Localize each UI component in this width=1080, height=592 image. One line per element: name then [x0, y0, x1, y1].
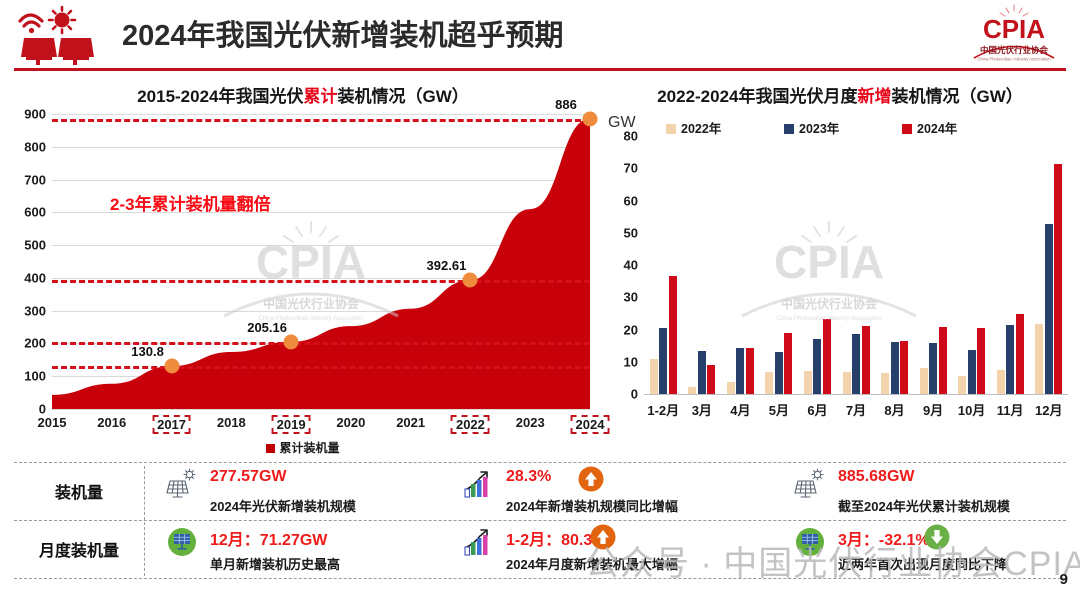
y-axis-tick: 60 — [624, 193, 638, 208]
cumulative-annotation: 2-3年累计装机量翻倍 — [110, 190, 271, 215]
summary-caption: 2024年新增装机规模同比增幅 — [506, 496, 678, 515]
reference-line — [52, 119, 590, 122]
x-axis-tick: 2021 — [396, 415, 425, 430]
y-axis-tick: 500 — [24, 238, 46, 253]
title-part-highlight: 累计 — [304, 87, 338, 106]
bar — [746, 348, 754, 394]
bar — [920, 368, 928, 394]
monthly-legend: 2022年2023年2024年 — [666, 118, 1006, 136]
legend-label: 2023年 — [799, 122, 839, 136]
slide-page: 2024年我国光伏新增装机超乎预期 CPIA 中国光伏行业协会 China Ph… — [0, 0, 1080, 592]
bar — [977, 328, 985, 394]
bar — [736, 348, 744, 394]
bar — [939, 327, 947, 394]
bar-chart-up-icon — [462, 526, 494, 558]
summary-caption: 截至2024年光伏累计装机规模 — [838, 496, 1010, 515]
bar — [1045, 224, 1053, 394]
page-number: 9 — [1060, 571, 1068, 588]
svg-text:中国光伏行业协会: 中国光伏行业协会 — [980, 45, 1049, 55]
data-point-label: 392.61 — [427, 258, 467, 273]
x-axis-tick: 6月 — [807, 400, 827, 419]
monthly-chart-title: 2022-2024年我国光伏月度新增装机情况（GW） — [604, 72, 1076, 107]
y-axis-tick: 30 — [624, 290, 638, 305]
data-point-marker — [463, 273, 478, 288]
y-axis-tick: 600 — [24, 205, 46, 220]
x-axis-line — [644, 394, 1068, 395]
legend-item: 2024年 — [902, 118, 957, 137]
x-axis-tick: 11月 — [997, 400, 1024, 419]
bar — [775, 352, 783, 394]
bar — [659, 328, 667, 394]
svg-text:China Photovoltaic Industry As: China Photovoltaic Industry Association — [977, 57, 1051, 62]
bar — [958, 376, 966, 394]
overlay-watermark: 公众号 · 中国光伏行业协会CPIA — [585, 536, 1080, 585]
summary-cell: 12月：71.27GW 单月新增装机历史最高 — [166, 520, 436, 578]
y-axis-tick: 70 — [624, 161, 638, 176]
bar — [707, 365, 715, 394]
charts-region: 2015-2024年我国光伏累计装机情况（GW） 010020030040050… — [0, 72, 1080, 454]
y-axis-tick: 700 — [24, 172, 46, 187]
bar — [669, 276, 677, 394]
summary-value: 28.3% — [506, 468, 551, 486]
y-axis-tick: 40 — [624, 258, 638, 273]
cumulative-capacity-chart: 2015-2024年我国光伏累计装机情况（GW） 010020030040050… — [4, 72, 602, 452]
x-axis-tick: 2017 — [152, 415, 191, 434]
gridline — [52, 409, 590, 410]
monthly-capacity-chart: 2022-2024年我国光伏月度新增装机情况（GW） GW 2022年2023年… — [604, 72, 1076, 452]
x-axis-tick: 5月 — [769, 400, 789, 419]
x-axis-tick: 2016 — [97, 415, 126, 430]
arrow-up-badge — [578, 466, 604, 492]
y-axis-tick: 800 — [24, 139, 46, 154]
bar — [1006, 325, 1014, 394]
data-point-label: 205.16 — [247, 320, 287, 335]
x-axis-tick: 2019 — [272, 415, 311, 434]
legend-swatch — [666, 124, 676, 134]
legend-label: 2022年 — [681, 122, 721, 136]
title-part-2: 装机情况（GW） — [338, 87, 469, 106]
legend-swatch — [784, 124, 794, 134]
y-axis-tick: 100 — [24, 369, 46, 384]
title-part-highlight: 新增 — [858, 87, 892, 106]
reference-line — [52, 366, 590, 369]
bar — [688, 387, 696, 394]
bar — [823, 319, 831, 394]
header-divider — [14, 68, 1066, 71]
solar-panel-logo — [14, 5, 112, 67]
summary-value: 885.68GW — [838, 468, 914, 486]
monthly-plot-area: 01020304050607080 — [644, 136, 1068, 394]
bar — [891, 342, 899, 394]
data-point-marker — [583, 111, 598, 126]
cumulative-chart-title: 2015-2024年我国光伏累计装机情况（GW） — [4, 72, 602, 107]
bar — [727, 382, 735, 394]
solar-panel-icon — [794, 468, 826, 500]
x-axis-tick: 1-2月 — [647, 400, 679, 419]
row-label-monthly-capacity: 月度装机量 — [14, 520, 144, 578]
x-axis-tick: 2015 — [38, 415, 67, 430]
solar-panel-green-icon — [166, 526, 198, 558]
bar — [929, 343, 937, 394]
y-axis-tick: 10 — [624, 354, 638, 369]
y-axis-tick: 50 — [624, 225, 638, 240]
bar — [698, 351, 706, 394]
summary-value: 277.57GW — [210, 468, 286, 486]
bar — [852, 334, 860, 394]
y-axis-tick: 0 — [631, 387, 638, 402]
bar — [765, 372, 773, 394]
row-label-installed-capacity: 装机量 — [14, 462, 144, 520]
summary-cell: 28.3% 2024年新增装机规模同比增幅 — [462, 462, 762, 520]
legend-label-cumulative: 累计装机量 — [279, 441, 339, 455]
x-axis-tick: 4月 — [730, 400, 750, 419]
cumulative-area-series — [52, 114, 590, 409]
y-axis-tick: 80 — [624, 129, 638, 144]
x-axis-tick: 2018 — [217, 415, 246, 430]
legend-item: 2022年 — [666, 118, 721, 137]
page-title: 2024年我国光伏新增装机超乎预期 — [122, 12, 564, 54]
solar-panel-icon — [166, 468, 198, 500]
y-axis-tick: 400 — [24, 270, 46, 285]
table-row: 装机量 — [14, 462, 1066, 520]
legend-item: 2023年 — [784, 118, 839, 137]
x-axis-tick: 9月 — [923, 400, 943, 419]
bar — [843, 372, 851, 394]
title-part-1: 2022-2024年我国光伏月度 — [657, 87, 857, 106]
data-point-label: 130.8 — [131, 344, 164, 359]
bar — [1035, 324, 1043, 394]
x-axis-tick: 7月 — [846, 400, 866, 419]
x-axis-tick: 8月 — [884, 400, 904, 419]
cumulative-x-axis: 2015201620172018201920202021202220232024 — [52, 411, 590, 437]
x-axis-tick: 3月 — [692, 400, 712, 419]
bar — [968, 350, 976, 394]
y-axis-tick: 20 — [624, 322, 638, 337]
summary-caption: 单月新增装机历史最高 — [210, 554, 340, 573]
bar — [1016, 314, 1024, 394]
bar — [900, 341, 908, 394]
x-axis-tick: 12月 — [1035, 400, 1062, 419]
bar — [862, 326, 870, 394]
cumulative-plot-area: 0100200300400500600700800900130.8205.163… — [52, 114, 590, 409]
x-axis-tick: 2023 — [516, 415, 545, 430]
data-point-marker — [284, 334, 299, 349]
cpia-logo: CPIA 中国光伏行业协会 China Photovoltaic Industr… — [962, 2, 1066, 64]
x-axis-tick: 2022 — [451, 415, 490, 434]
page-header: 2024年我国光伏新增装机超乎预期 CPIA 中国光伏行业协会 China Ph… — [0, 0, 1080, 72]
legend-label: 2024年 — [917, 122, 957, 136]
monthly-x-axis: 1-2月3月4月5月6月7月8月9月10月11月12月 — [644, 396, 1068, 420]
x-axis-tick: 2020 — [336, 415, 365, 430]
reference-line — [52, 280, 590, 283]
bar-chart-up-icon — [462, 468, 494, 500]
bar — [804, 371, 812, 394]
summary-cell: 885.68GW 截至2024年光伏累计装机规模 — [794, 462, 1074, 520]
bar — [881, 373, 889, 394]
y-axis-tick: 200 — [24, 336, 46, 351]
title-part-2: 装机情况（GW） — [892, 87, 1023, 106]
y-axis-tick: 300 — [24, 303, 46, 318]
summary-cell: 277.57GW 2024年光伏新增装机规模 — [166, 462, 436, 520]
bar — [1054, 164, 1062, 394]
legend-swatch-cumulative — [266, 444, 275, 453]
bar — [813, 339, 821, 394]
y-axis-tick: 900 — [24, 107, 46, 122]
title-part-1: 2015-2024年我国光伏 — [137, 87, 303, 106]
x-axis-tick: 10月 — [958, 400, 985, 419]
summary-caption: 2024年光伏新增装机规模 — [210, 496, 356, 515]
data-point-marker — [164, 359, 179, 374]
bar — [650, 359, 658, 394]
bar — [997, 370, 1005, 394]
legend-swatch — [902, 124, 912, 134]
data-point-label: 886 — [555, 97, 577, 112]
bar — [784, 333, 792, 394]
summary-value: 12月：71.27GW — [210, 526, 327, 550]
cumulative-legend: 累计装机量 — [4, 439, 602, 456]
svg-text:CPIA: CPIA — [983, 14, 1045, 44]
